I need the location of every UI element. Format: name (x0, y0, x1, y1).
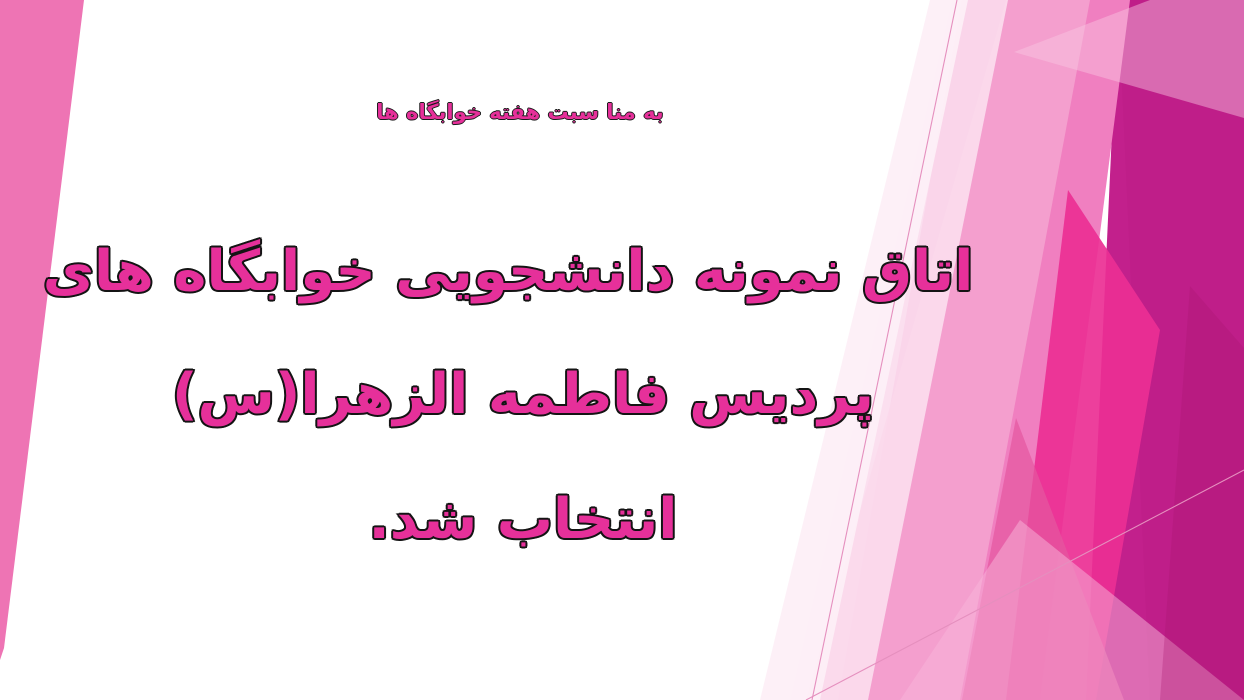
presentation-slide: به منا سبت هفته خوابگاه ها اتاق نمونه دا… (0, 0, 1244, 700)
slide-subtitle: به منا سبت هفته خوابگاه ها (0, 100, 1040, 124)
slide-title-line-3: انتخاب شد. (0, 488, 1046, 552)
slide-title-line-1: اتاق نمونه دانشجویی خوابگاه های (0, 240, 1016, 304)
slide-content: به منا سبت هفته خوابگاه ها اتاق نمونه دا… (0, 0, 1244, 700)
slide-title-line-2: پردیس فاطمه الزهرا(س) (0, 363, 1046, 427)
